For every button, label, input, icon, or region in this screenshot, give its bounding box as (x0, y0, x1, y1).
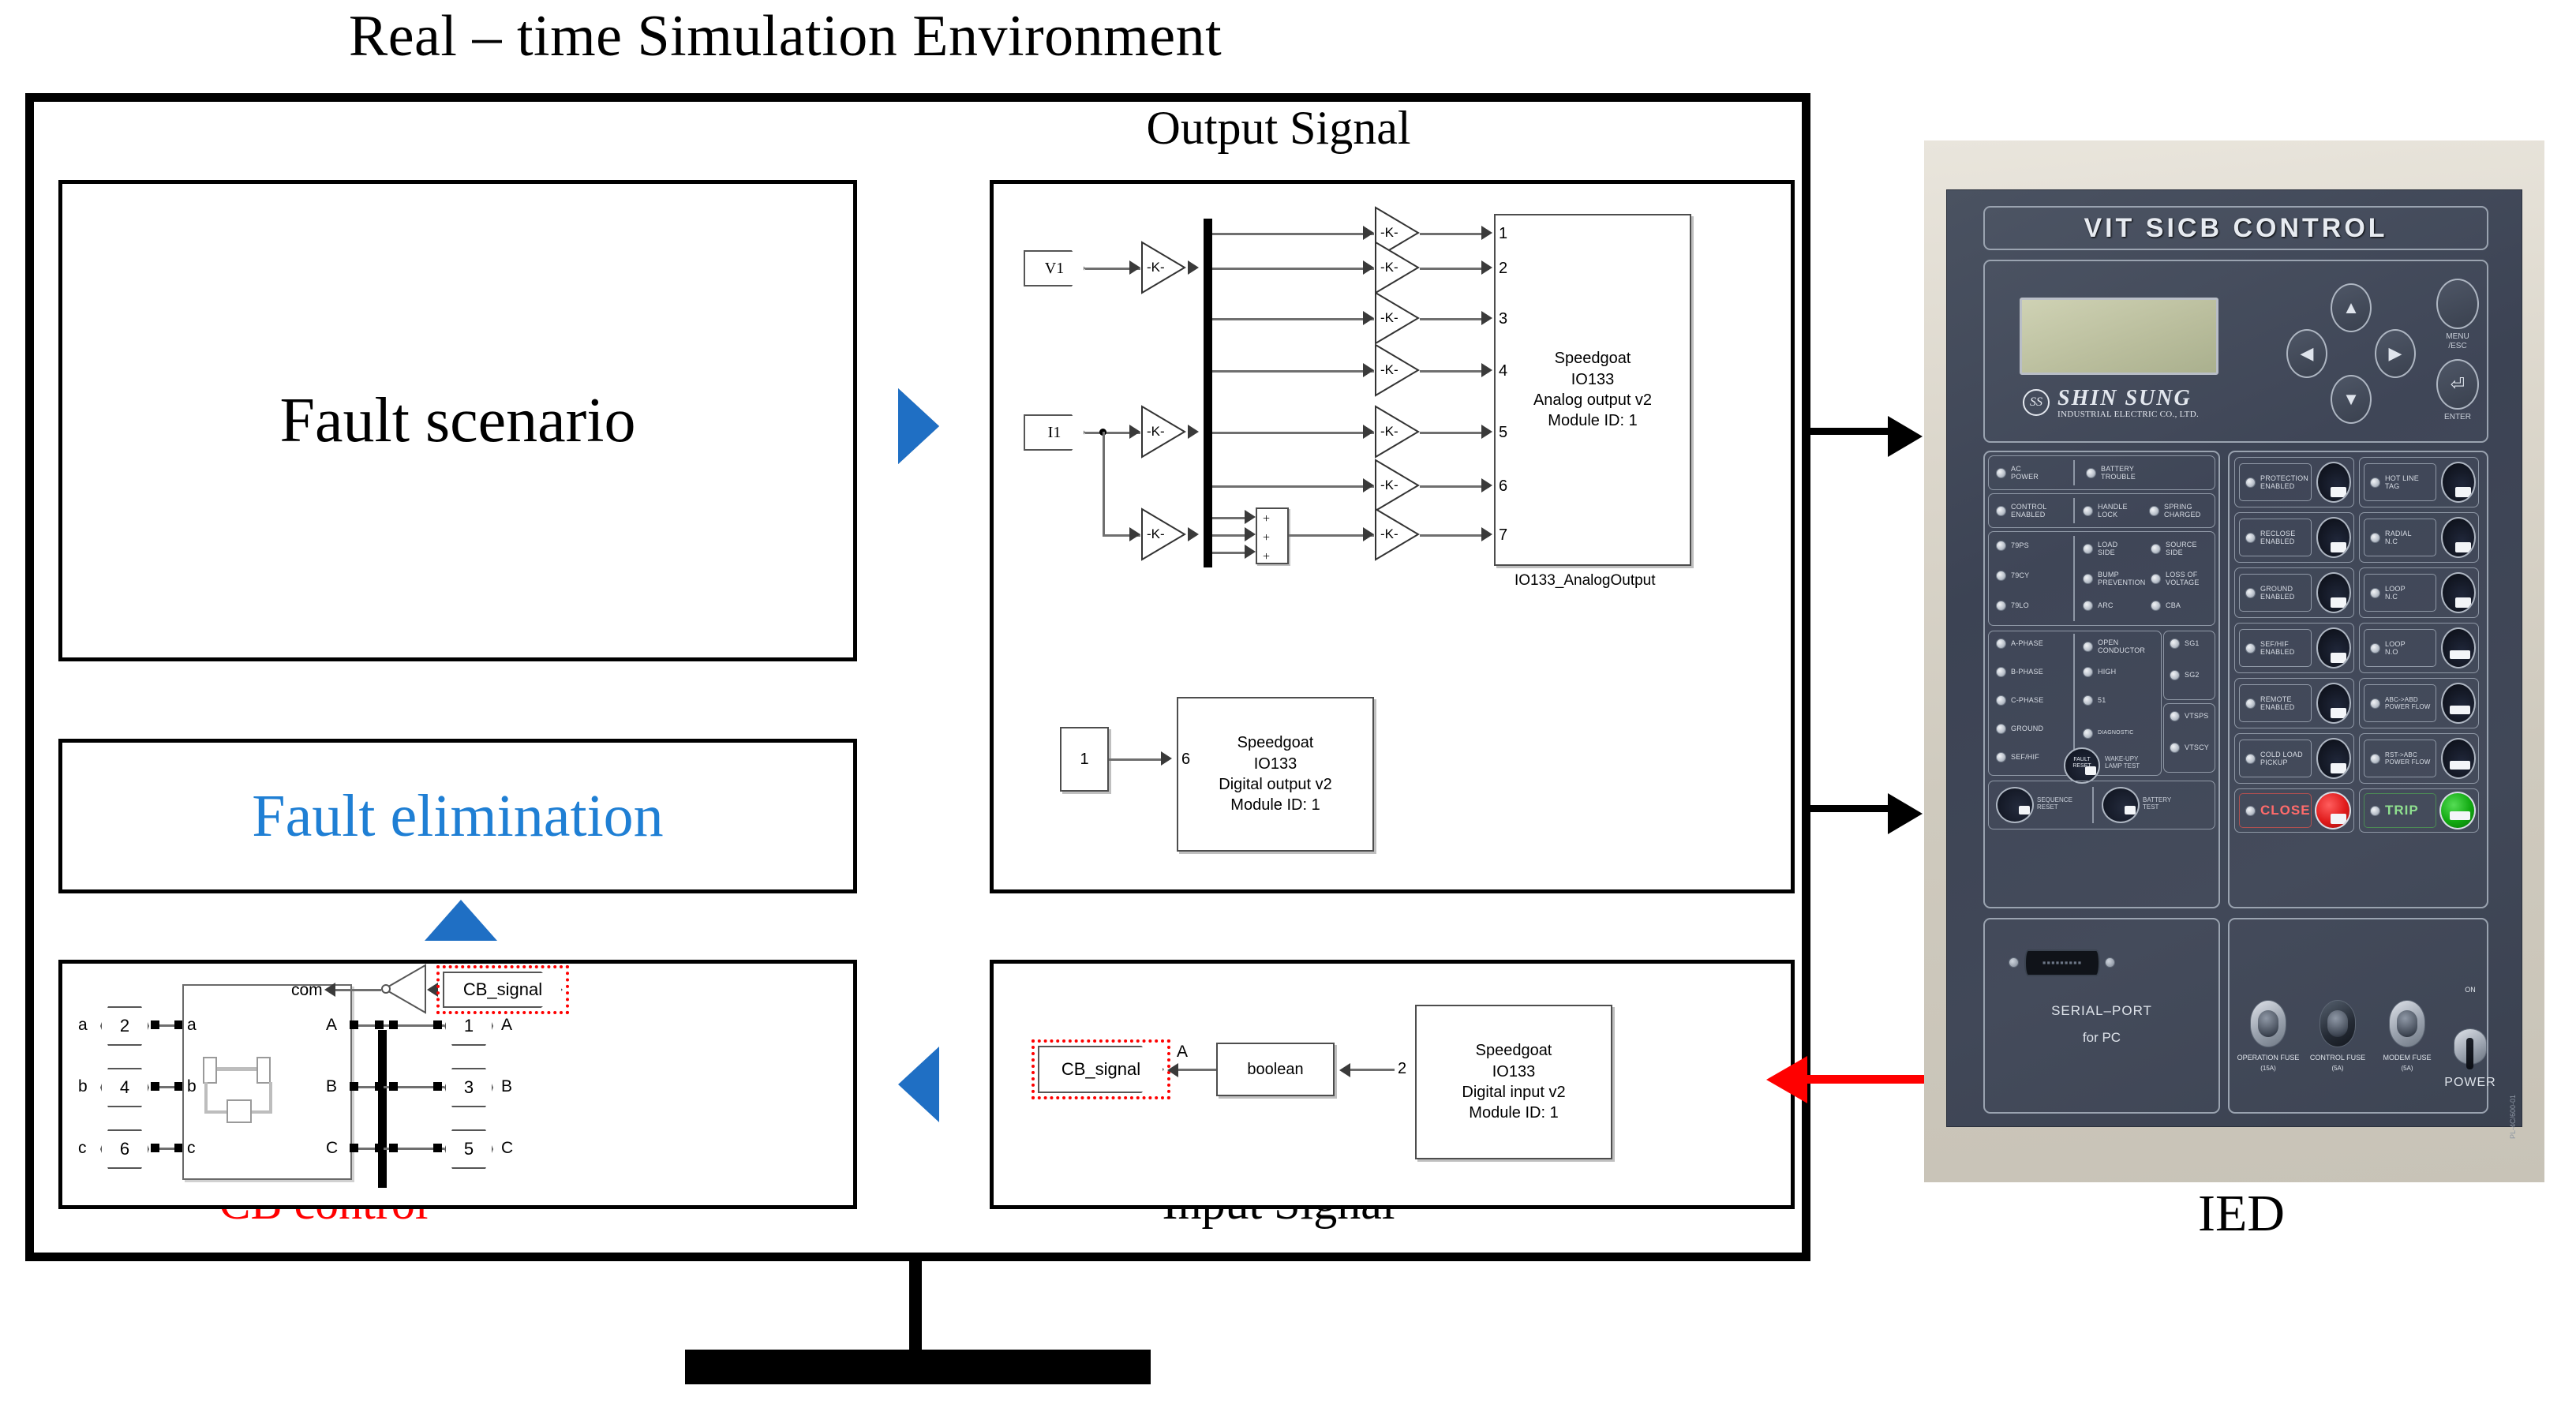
arrow-g2-2 (1363, 260, 1374, 275)
db9-screw-right (2105, 957, 2115, 968)
sequence-reset-knob[interactable] (1996, 787, 2034, 823)
knob-flag-icon (2019, 806, 2030, 814)
wire-g2-6-out (1420, 485, 1489, 488)
led-label: 79LO (2011, 601, 2029, 609)
led-high: HIGH (2083, 667, 2116, 677)
ao-pin-6: 6 (1499, 477, 1507, 496)
knob-flag-icon (2450, 650, 2470, 659)
sg-ao-line4: Module ID: 1 (1548, 410, 1637, 431)
led-indicator (2370, 806, 2380, 816)
cb-out-dot-c2 (375, 1144, 384, 1152)
rst-abc-power-flow-knob[interactable] (2441, 738, 2476, 779)
sum-sign-2: + (1263, 531, 1270, 545)
led-indicator (2083, 728, 2093, 739)
ctrl-label-loop-no: LOOP N.O (2364, 629, 2436, 667)
bus-wire-1 (1212, 233, 1374, 235)
ao-pin-7: 7 (1499, 526, 1507, 545)
cb-breaker-in-a: a (187, 1016, 197, 1035)
gain-label: -K- (1380, 477, 1398, 493)
ctrl-label-reclose-enabled: RECLOSE ENABLED (2239, 519, 2312, 556)
speedgoat-digital-output-block: Speedgoat IO133 Digital output v2 Module… (1177, 697, 1374, 852)
led-indicator (2370, 533, 2380, 543)
inport-i1: I1 (1024, 414, 1085, 451)
sg-ao-line3: Analog output v2 (1533, 390, 1652, 410)
nav-up-button[interactable]: ▲ (2331, 283, 2372, 332)
arrow-right-icon: ▶ (2389, 345, 2402, 362)
led-indicator (1996, 638, 2006, 649)
bus-wire-2 (1212, 268, 1374, 270)
db9-screw-left (2009, 957, 2019, 968)
nav-left-button[interactable]: ◀ (2286, 329, 2327, 378)
ied-side-code: PL-4C/600-01 (2509, 1095, 2517, 1139)
cb-outport-label-C: C (501, 1139, 513, 1158)
power-toggle-switch[interactable] (2452, 1017, 2488, 1076)
led-indicator (1996, 506, 2006, 516)
ctrl-label-abc-abd-power-flow: ABC->ABD POWER FLOW (2364, 684, 2436, 722)
menu-esc-label: MENU /ESC (2436, 332, 2479, 350)
fuse-cap-icon (2397, 1010, 2417, 1037)
led-ground: GROUND (1996, 724, 2043, 734)
flow-arrow-scenario-to-output (898, 388, 939, 464)
led-label: C-PHASE (2011, 696, 2043, 704)
cb-inport-2: 2 (100, 1006, 149, 1046)
gain-label: -K- (1147, 260, 1165, 275)
ao-pin-1: 1 (1499, 225, 1507, 243)
led-cba: CBA (2151, 601, 2181, 611)
led-divider-4 (2073, 634, 2075, 751)
sum-sign-3: + (1263, 550, 1270, 564)
gain-label: -K- (1147, 424, 1165, 440)
ied-lcd-screen (2020, 298, 2218, 375)
led-label: B-PHASE (2011, 668, 2043, 676)
trip-button[interactable] (2439, 792, 2476, 829)
ied-title-text: VIT SICB CONTROL (1985, 208, 2487, 249)
output-bus-bar (1204, 219, 1212, 567)
led-sef-hif: SEF/HIF (1996, 752, 2039, 762)
led-source-side: SOURCE SIDE (2151, 541, 2197, 557)
close-button[interactable] (2315, 792, 2351, 829)
sg-do-line1: Speedgoat (1237, 732, 1314, 753)
sg-do-line2: IO133 (1254, 754, 1297, 774)
led-indicator (2083, 642, 2093, 652)
arrow-g2-5 (1363, 425, 1374, 439)
ctrl-label-ground-enabled: GROUND ENABLED (2239, 574, 2312, 612)
input-port-letter-A: A (1177, 1043, 1188, 1062)
inport-v1: V1 (1024, 250, 1085, 286)
led-indicator (2083, 544, 2093, 554)
led-label: SPRING CHARGED (2164, 503, 2200, 519)
cb-port-dot-b1 (151, 1082, 159, 1091)
led-indicator (2151, 544, 2161, 554)
wire-g2-1-out (1420, 233, 1489, 235)
led-indicator (2170, 670, 2180, 680)
led-label: VTSPS (2185, 712, 2209, 720)
ctrl-label-text: GROUND ENABLED (2260, 585, 2294, 601)
wire-i1-branch-down (1103, 432, 1105, 536)
enter-icon: ⏎ (2451, 376, 2465, 393)
di-pin-2: 2 (1398, 1060, 1406, 1078)
led-label: SEF/HIF (2011, 753, 2039, 761)
led-c-phase: C-PHASE (1996, 695, 2043, 706)
led-indicator (2170, 743, 2180, 753)
cb-port-dot-a1 (151, 1020, 159, 1029)
sg-di-line2: IO133 (1492, 1062, 1535, 1082)
led-label: AC POWER (2011, 465, 2039, 481)
wire-g2-5-out (1420, 432, 1489, 434)
knob-flag-icon (2455, 542, 2471, 552)
arrow-ao-6 (1481, 478, 1492, 492)
cb-out-dot-b4 (433, 1082, 442, 1091)
control-fuse-label: CONTROL FUSE (2297, 1054, 2378, 1062)
close-label: CLOSE (2260, 803, 2311, 818)
led-indicator (1996, 468, 2006, 478)
gain-label: -K- (1380, 225, 1398, 241)
battery-test-label: BATTERY TEST (2143, 796, 2193, 811)
arrow-gaini1b-bus (1188, 527, 1199, 541)
led-79ps: 79PS (1996, 541, 2029, 551)
led-sg1: SG1 (2170, 638, 2200, 649)
led-load-side: LOAD SIDE (2083, 541, 2117, 557)
enter-label: ENTER (2436, 413, 2479, 422)
cb-out-dot-c4 (433, 1144, 442, 1152)
cb-out-dot-b2 (375, 1082, 384, 1091)
control-fuse[interactable] (2320, 1000, 2356, 1047)
ground-bar (685, 1350, 1151, 1384)
abc-abd-power-flow-knob[interactable] (2441, 683, 2476, 724)
wire-bool-cbsignal (1178, 1069, 1216, 1071)
ctrl-label-cold-load-pickup: COLD LOAD PICKUP (2239, 740, 2312, 777)
arrow-ao-4 (1481, 363, 1492, 377)
wire-g2-7-out (1420, 534, 1489, 537)
arrow-g2-3 (1363, 311, 1374, 325)
wire-const-do (1109, 758, 1166, 761)
bus-wire-5 (1212, 432, 1374, 434)
knob-flag-icon (2455, 597, 2471, 608)
led-label: BUMP PREVENTION (2098, 571, 2146, 587)
arrow-line-analog-to-ied (1803, 428, 1897, 435)
sg-do-line3: Digital output v2 (1219, 774, 1331, 795)
knob-flag-icon (2331, 597, 2346, 608)
cb-breaker-in-b: b (187, 1077, 197, 1096)
cb-com-arrow (324, 983, 335, 997)
cb-inport-label-c: c (78, 1139, 87, 1158)
ctrl-label-loop-nc: LOOP N.C (2364, 574, 2436, 612)
led-diagnostic: DIAGNOSTIC (2083, 728, 2134, 739)
led-label: A-PHASE (2011, 639, 2043, 647)
knob-flag-icon (2331, 763, 2346, 773)
gain-label: -K- (1147, 526, 1165, 542)
led-handle-lock: HANDLE LOCK (2083, 503, 2128, 519)
led-indicator (2370, 754, 2380, 764)
arrow-head-analog-to-ied (1888, 416, 1923, 457)
ctrl-label-text: RECLOSE ENABLED (2260, 530, 2295, 546)
led-sg2: SG2 (2170, 670, 2200, 680)
arrow-left-icon: ◀ (2301, 345, 2314, 362)
led-label: 79PS (2011, 541, 2029, 549)
led-indicator (2170, 638, 2180, 649)
loop-nc-knob[interactable] (2441, 572, 2476, 613)
led-label: HANDLE LOCK (2098, 503, 2128, 519)
arrow-ao-3 (1481, 311, 1492, 325)
nav-right-button[interactable]: ▶ (2375, 329, 2416, 378)
operation-fuse[interactable] (2250, 1000, 2286, 1047)
fault-elimination-text: Fault elimination (62, 743, 853, 889)
ao-pin-4: 4 (1499, 362, 1507, 380)
arrow-head-ied-to-input (1766, 1056, 1807, 1103)
wake-up-lamp-test-label: WAKE-UPY LAMP TEST (2105, 755, 2165, 770)
arrow-ao-5 (1481, 425, 1492, 439)
fuse-cap-icon (2327, 1010, 2348, 1037)
toggle-lever-icon (2466, 1038, 2473, 1069)
wire-di-bool (1350, 1069, 1395, 1071)
cb-com-wire (334, 989, 381, 991)
arrow-line-digital-to-ied (1803, 805, 1897, 812)
wire-g2-4-out (1420, 370, 1489, 373)
db9-pins-icon: ▪▪▪▪▪▪▪▪▪ (2042, 957, 2082, 969)
led-indicator (1996, 695, 2006, 706)
knob-flag-icon (2331, 653, 2346, 663)
ctrl-label-remote-enabled: REMOTE ENABLED (2239, 684, 2312, 722)
cb-out-dot-b1 (350, 1082, 358, 1091)
gain-label: -K- (1380, 362, 1398, 378)
cb-out-dot-a4 (433, 1020, 442, 1029)
output-signal-label: Output Signal (987, 101, 1571, 155)
ctrl-label-text: LOOP N.O (2385, 640, 2406, 657)
led-indicator (2245, 643, 2256, 653)
wire-g2-3-out (1420, 318, 1489, 320)
led-label: CONTROL ENABLED (2011, 503, 2046, 519)
led-79lo: 79LO (1996, 601, 2029, 611)
arrow-sum-3 (1245, 545, 1256, 559)
output-signal-panel: V1 I1 -K- -K- -K- + + + (990, 180, 1795, 893)
wire-g2-2-out (1420, 268, 1489, 270)
led-label: VTSCY (2185, 743, 2209, 751)
cb-control-panel: 2 4 6 a b c a b c A B C com 1 3 5 A B C (58, 960, 857, 1209)
cb-outport-3: 3 (444, 1068, 493, 1107)
serial-port-label-line2: for PC (1988, 1030, 2215, 1046)
radial-nc-knob[interactable] (2441, 517, 2476, 558)
ied-title-bezel: VIT SICB CONTROL (1983, 206, 2488, 250)
enter-button[interactable]: ⏎ (2436, 359, 2479, 410)
remote-enabled-knob[interactable] (2316, 683, 2351, 724)
led-battery-trouble: BATTERY TROUBLE (2086, 465, 2136, 481)
led-vtsps: VTSPS (2170, 711, 2209, 721)
modem-fuse[interactable] (2389, 1000, 2425, 1047)
cb-breaker-out-b: B (326, 1077, 337, 1096)
gain2-block-6: -K- (1374, 459, 1420, 512)
arrow-i1b-gain (1129, 527, 1140, 541)
ao-pin-3: 3 (1499, 310, 1507, 328)
led-label: LOSS OF VOLTAGE (2166, 571, 2200, 587)
trip-label-box: TRIP (2364, 793, 2436, 828)
led-label: GROUND (2011, 725, 2043, 732)
speedgoat-analog-output-block: Speedgoat IO133 Analog output v2 Module … (1494, 214, 1691, 566)
led-label: SG1 (2185, 639, 2200, 647)
breaker-glyph-l-drop (204, 1082, 208, 1114)
nav-down-button[interactable]: ▼ (2331, 375, 2372, 424)
ctrl-label-hot-line-tag: HOT LINE TAG (2364, 463, 2436, 501)
cb-outwire-C (353, 1148, 444, 1150)
breaker-glyph-center (227, 1099, 252, 1123)
led-indicator (2151, 601, 2161, 611)
ao-pin-5: 5 (1499, 424, 1507, 442)
led-b-phase: B-PHASE (1996, 667, 2043, 677)
knob-flag-icon (2125, 806, 2136, 814)
led-label: OPEN CONDUCTOR (2098, 638, 2145, 655)
battery-test-knob[interactable] (2102, 787, 2140, 823)
knob-flag-icon (2450, 761, 2470, 770)
led-indicator (2370, 588, 2380, 598)
led-indicator (1996, 724, 2006, 734)
ctrl-label-rst-abc-power-flow: RST->ABC POWER FLOW (2364, 740, 2436, 777)
loop-no-knob[interactable] (2441, 627, 2476, 668)
serial-port-label-line1: SERIAL–PORT (1988, 1003, 2215, 1019)
arrow-line-ied-to-input (1807, 1075, 1924, 1084)
gain-label: -K- (1380, 424, 1398, 440)
led-label: SOURCE SIDE (2166, 541, 2197, 557)
cb-outwire-B (353, 1086, 444, 1088)
protection-enabled-knob[interactable] (2316, 462, 2351, 503)
cb-out-dot-a2 (375, 1020, 384, 1029)
cb-inport-label-a: a (78, 1016, 88, 1035)
flow-arrow-input-to-cb (898, 1047, 939, 1122)
fuse-cap-icon (2258, 1010, 2278, 1037)
breaker-glyph-br (250, 1110, 272, 1114)
led-indicator (2151, 574, 2161, 584)
cb-outport-5: 5 (444, 1129, 493, 1169)
ied-front-face: VIT SICB CONTROL SS SHIN SUNG INDUSTRIAL… (1946, 189, 2522, 1127)
sef-hif-enabled-knob[interactable] (2316, 627, 2351, 668)
led-indicator (1996, 571, 2006, 581)
fault-reset-label: FAULT RESET (2064, 757, 2100, 770)
sg-ao-line2: IO133 (1571, 369, 1614, 390)
ground-stem (909, 1261, 922, 1353)
arrow-g2-4 (1363, 363, 1374, 377)
arrow-ao-2 (1481, 260, 1492, 275)
breaker-glyph-bl (204, 1110, 228, 1114)
gain-label: -K- (1380, 526, 1398, 542)
constant-value: 1 (1080, 749, 1088, 770)
control-fuse-rating: (5A) (2297, 1065, 2378, 1072)
sg-do-line4: Module ID: 1 (1230, 795, 1320, 815)
hot-line-tag-knob[interactable] (2441, 462, 2476, 503)
led-indicator (2149, 506, 2159, 516)
led-indicator (2370, 477, 2380, 488)
cb-out-dot-c1 (350, 1144, 358, 1152)
led-label: SG2 (2185, 671, 2200, 679)
gain2-block-4: -K- (1374, 343, 1420, 397)
led-indicator (2370, 698, 2380, 709)
led-spring-charged: SPRING CHARGED (2149, 503, 2200, 519)
breaker-glyph-r-drop (269, 1082, 272, 1114)
ctrl-label-text: COLD LOAD PICKUP (2260, 751, 2303, 767)
led-indicator (2083, 506, 2093, 516)
boolean-label: boolean (1247, 1059, 1303, 1080)
cb-breaker-in-c: c (187, 1139, 196, 1158)
gain-block-i1b: -K- (1140, 507, 1186, 561)
arrow-gaini1-bus (1188, 425, 1199, 439)
cb-inport-4: 4 (100, 1068, 149, 1107)
cb-inport-label-b: b (78, 1077, 88, 1096)
cb-com-label: com (291, 981, 323, 1000)
arrow-g2-1 (1363, 226, 1374, 240)
speedgoat-digital-input-block: Speedgoat IO133 Digital input v2 Module … (1415, 1005, 1612, 1159)
cb-out-dot-a3 (389, 1020, 398, 1029)
arrow-into-boolean (1339, 1063, 1350, 1077)
fault-scenario-panel: Fault scenario (58, 180, 857, 661)
cb-port-dot-c1 (151, 1144, 159, 1152)
ctrl-label-text: SEF/HIF ENABLED (2260, 640, 2294, 657)
input-cb-signal-goto-block: CB_signal (1038, 1046, 1164, 1093)
led-label: DIAGNOSTIC (2098, 730, 2134, 736)
cb-signal-from-block: CB_signal (443, 972, 563, 1008)
sg-di-line3: Digital input v2 (1462, 1082, 1565, 1103)
ctrl-label-text: RST->ABC POWER FLOW (2385, 751, 2431, 766)
power-label: POWER (2441, 1076, 2499, 1090)
led-loss-of-voltage: LOSS OF VOLTAGE (2151, 571, 2200, 587)
sg-di-line4: Module ID: 1 (1469, 1103, 1558, 1123)
knob-flag-icon (2450, 811, 2470, 820)
led-79cy: 79CY (1996, 571, 2029, 581)
constant-block: 1 (1060, 727, 1109, 792)
ied-brand-logo: SS SHIN SUNG INDUSTRIAL ELECTRIC CO., LT… (2016, 388, 2222, 425)
led-label: CBA (2166, 601, 2181, 609)
gain-block-i1: -K- (1140, 405, 1186, 459)
knob-flag-icon (2331, 487, 2346, 497)
page-title: Real – time Simulation Environment (0, 3, 1571, 70)
fault-elimination-panel: Fault elimination (58, 739, 857, 893)
led-label: ARC (2098, 601, 2114, 609)
arrow-ao-1 (1481, 226, 1492, 240)
cold-load-pickup-knob[interactable] (2316, 738, 2351, 779)
led-indicator (2170, 711, 2180, 721)
arrow-into-cbsignal (1167, 1063, 1178, 1077)
led-indicator (2083, 601, 2093, 611)
arrow-g2-7 (1363, 527, 1374, 541)
arrow-v1-gain (1129, 260, 1140, 275)
sg-ao-line1: Speedgoat (1555, 348, 1631, 369)
power-on-label: ON (2452, 986, 2488, 994)
ctrl-label-protection-enabled: PROTECTION ENABLED (2239, 463, 2312, 501)
ground-enabled-knob[interactable] (2316, 572, 2351, 613)
ied-brand-name: SHIN SUNG (2057, 386, 2192, 411)
gain2-block-5: -K- (1374, 405, 1420, 459)
arrow-head-digital-to-ied (1888, 793, 1923, 834)
ctrl-label-text: HOT LINE TAG (2385, 474, 2419, 491)
arrow-sum-1 (1245, 510, 1256, 524)
cb-out-dot-c3 (389, 1144, 398, 1152)
gain-block-v1: -K- (1140, 241, 1186, 294)
ctrl-label-radial-nc: RADIAL N.C (2364, 519, 2436, 556)
ctrl-label-sef-hif-enabled: SEF/HIF ENABLED (2239, 629, 2312, 667)
knob-flag-icon (2331, 814, 2346, 824)
ctrl-label-text: PROTECTION ENABLED (2260, 474, 2308, 491)
ctrl-label-text: ABC->ABD POWER FLOW (2385, 696, 2431, 710)
knob-flag-icon (2455, 487, 2471, 497)
led-indicator (2370, 643, 2380, 653)
reclose-enabled-knob[interactable] (2316, 517, 2351, 558)
led-indicator (1996, 752, 2006, 762)
arrow-sum-2 (1245, 527, 1256, 541)
cb-out-dot-b3 (389, 1082, 398, 1091)
menu-esc-button[interactable] (2436, 279, 2479, 329)
led-indicator (2245, 698, 2256, 709)
ied-label: IED (2020, 1184, 2462, 1244)
cb-outwire-A (353, 1024, 444, 1027)
gain2-block-2: -K- (1374, 241, 1420, 294)
led-51: 51 (2083, 695, 2106, 706)
db9-serial-connector[interactable]: ▪▪▪▪▪▪▪▪▪ (2024, 949, 2100, 976)
